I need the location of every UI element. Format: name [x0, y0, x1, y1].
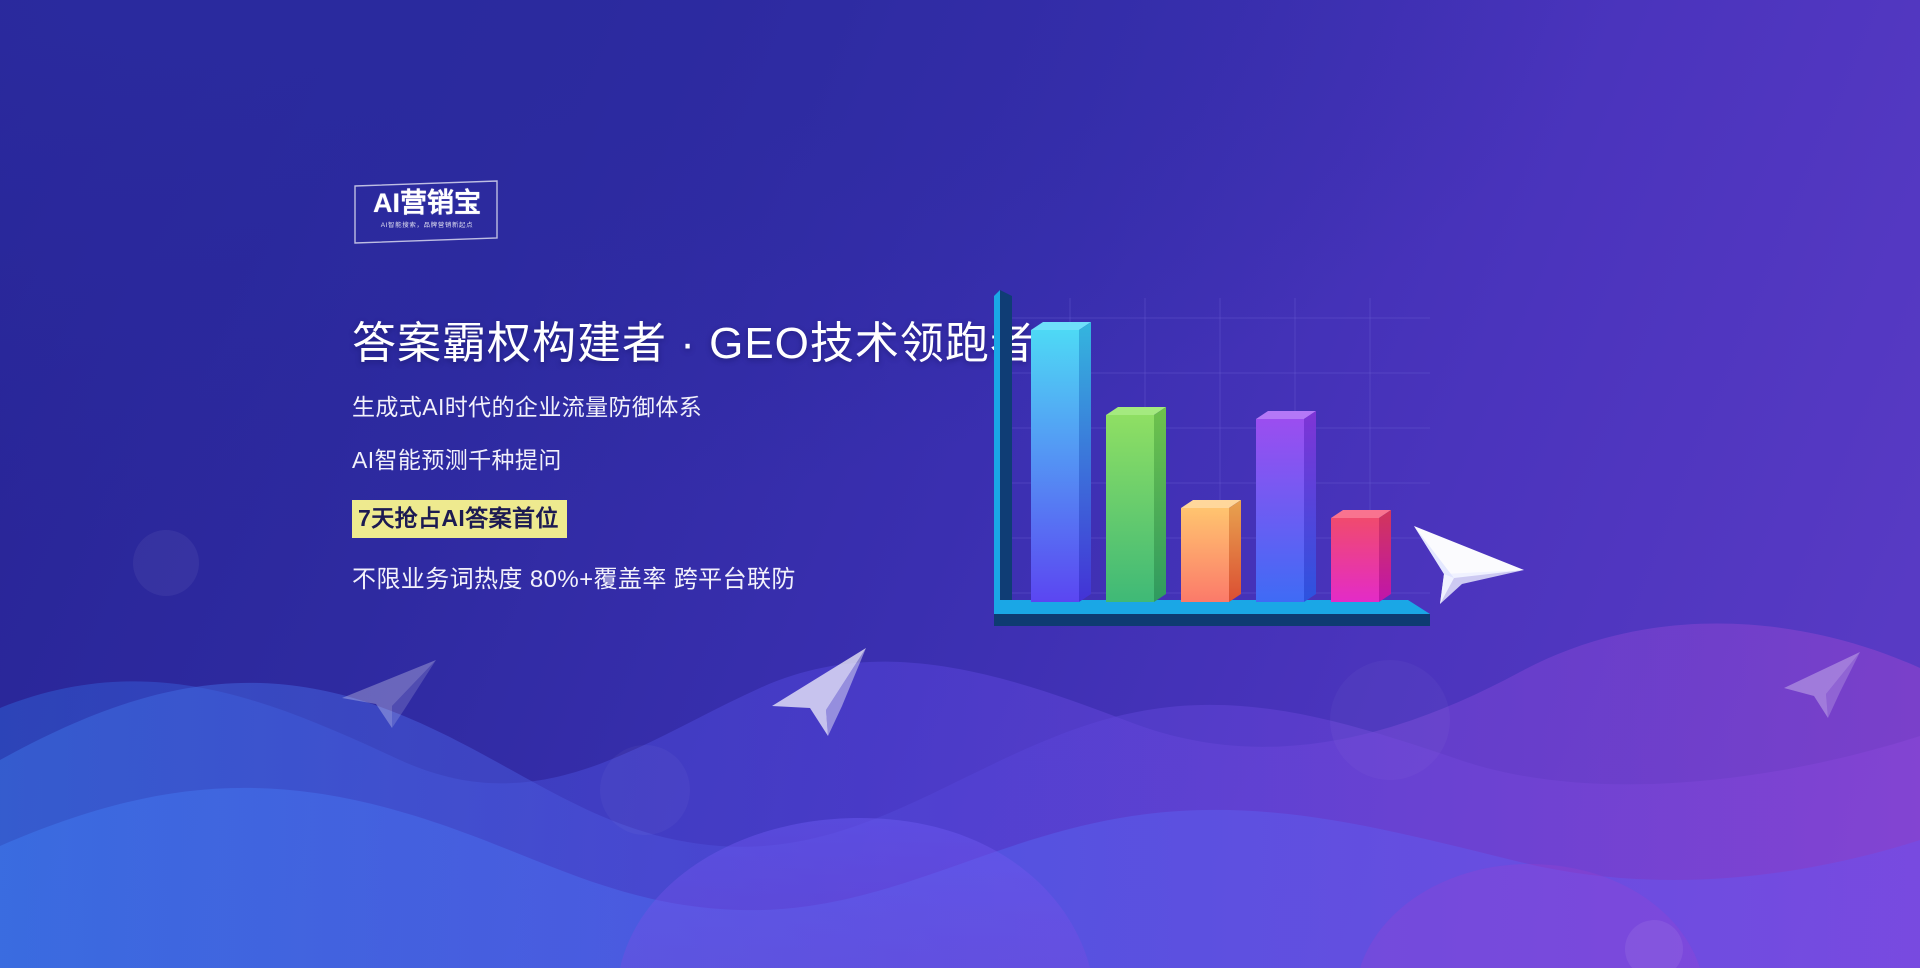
paper-plane-right-icon: [1408, 518, 1528, 614]
brand-logo-text: AI营销宝: [360, 190, 494, 217]
hero-subline-2: AI智能预测千种提问: [352, 449, 1052, 472]
chart-bar: [1256, 411, 1316, 602]
brand-logo-tagline: AI智能搜索，品牌营销新起点: [360, 223, 494, 229]
paper-plane-far-right-icon: [1778, 648, 1868, 728]
chart-bar: [1331, 510, 1391, 602]
hero-headline: 答案霸权构建者 · GEO技术领跑者: [352, 318, 1052, 370]
chart-y-axis: [994, 290, 1012, 614]
hero-subline-4: 不限业务词热度 80%+覆盖率 跨平台联防: [352, 568, 1052, 592]
hero-subline-1: 生成式AI时代的企业流量防御体系: [352, 396, 1052, 419]
hero-highlight-badge: 7天抢占AI答案首位: [352, 500, 567, 538]
bar-chart-illustration: [975, 288, 1455, 668]
chart-bar: [1181, 500, 1241, 602]
brand-logo[interactable]: AI营销宝 AI智能搜索，品牌营销新起点: [352, 180, 500, 244]
hero-highlight-row: 7天抢占AI答案首位: [352, 500, 1052, 538]
paper-plane-left-icon: [336, 654, 446, 734]
chart-base-platform: [994, 600, 1430, 626]
chart-bar: [1106, 407, 1166, 602]
chart-bar: [1031, 322, 1091, 602]
hero-banner: AI营销宝 AI智能搜索，品牌营销新起点 答案霸权构建者 · GEO技术领跑者 …: [0, 0, 1920, 968]
paper-plane-mid-icon: [768, 644, 878, 744]
hero-copy: 答案霸权构建者 · GEO技术领跑者 生成式AI时代的企业流量防御体系 AI智能…: [352, 318, 1052, 592]
